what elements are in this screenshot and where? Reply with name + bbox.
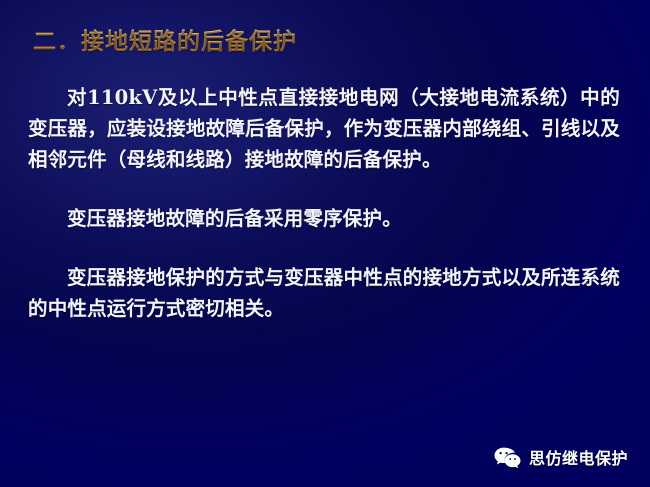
watermark: 思仿继电保护 xyxy=(494,445,628,469)
slide-title: 二．接地短路的后备保护 xyxy=(33,22,297,56)
body-paragraph-2: 变压器接地故障的后备采用零序保护。 xyxy=(28,203,620,234)
body-paragraph-3: 变压器接地保护的方式与变压器中性点的接地方式以及所连系统的中性点运行方式密切相关… xyxy=(28,262,620,324)
page-title: 二．接地短路的后备保护 xyxy=(33,22,297,56)
watermark-label: 思仿继电保护 xyxy=(529,445,628,469)
slide-body: 对110kV及以上中性点直接接地电网（大接地电流系统）中的变压器，应装设接地故障… xyxy=(28,82,620,324)
wechat-icon xyxy=(494,447,521,468)
body-paragraph-1: 对110kV及以上中性点直接接地电网（大接地电流系统）中的变压器，应装设接地故障… xyxy=(28,82,620,175)
slide-canvas: 二．接地短路的后备保护 对110kV及以上中性点直接接地电网（大接地电流系统）中… xyxy=(0,0,650,487)
